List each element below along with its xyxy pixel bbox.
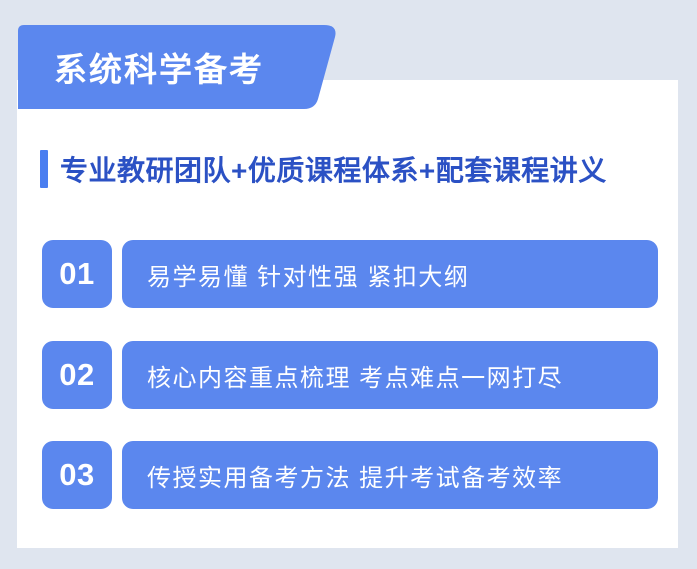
headline-accent-bar (40, 150, 48, 188)
feature-number-badge: 01 (42, 240, 112, 308)
banner-title: 系统科学备考 (54, 25, 264, 109)
feature-bar: 易学易懂 针对性强 紧扣大纲 (122, 240, 658, 308)
feature-text: 核心内容重点梳理 考点难点一网打尽 (122, 358, 563, 393)
promo-poster: 系统科学备考 专业教研团队+优质课程体系+配套课程讲义 01 易学易懂 针对性强… (0, 0, 697, 569)
feature-bar: 核心内容重点梳理 考点难点一网打尽 (122, 341, 658, 409)
feature-number-badge: 02 (42, 341, 112, 409)
feature-row: 03 传授实用备考方法 提升考试备考效率 (42, 441, 658, 509)
feature-row: 02 核心内容重点梳理 考点难点一网打尽 (42, 341, 658, 409)
feature-text: 易学易懂 针对性强 紧扣大纲 (122, 257, 469, 292)
feature-row: 01 易学易懂 针对性强 紧扣大纲 (42, 240, 658, 308)
feature-number-badge: 03 (42, 441, 112, 509)
feature-text: 传授实用备考方法 提升考试备考效率 (122, 458, 563, 493)
feature-bar: 传授实用备考方法 提升考试备考效率 (122, 441, 658, 509)
headline: 专业教研团队+优质课程体系+配套课程讲义 (40, 146, 607, 192)
headline-text: 专业教研团队+优质课程体系+配套课程讲义 (60, 149, 607, 189)
header-banner: 系统科学备考 (18, 25, 338, 109)
